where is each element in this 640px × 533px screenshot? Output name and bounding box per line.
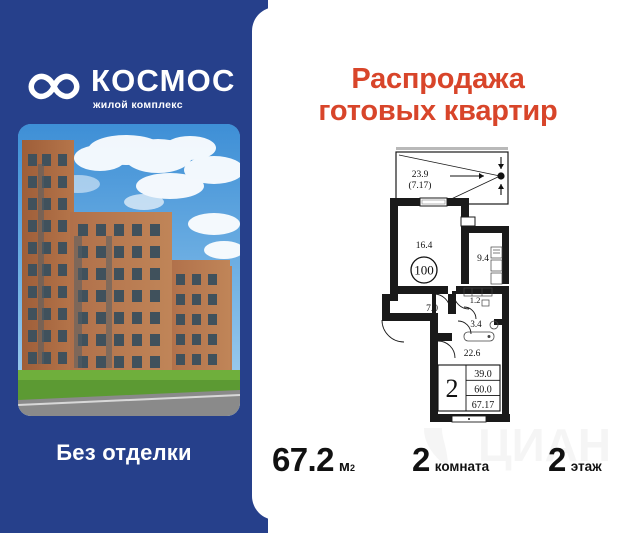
logo-text: КОСМОС жилой комплекс <box>91 65 236 111</box>
apartment-stats: 67.2 м2 2 комната 2 этаж <box>252 437 640 487</box>
stat-floor-value: 2 <box>548 443 566 476</box>
title-line-2: готовых квартир <box>252 95 624 127</box>
label-area-living: 39.0 <box>474 369 492 380</box>
logo-wordmark: КОСМОС <box>91 65 236 96</box>
label-area-total: 67.17 <box>472 400 495 411</box>
stat-floor: 2 этаж <box>548 443 602 476</box>
label-balcony-area: 23.9 <box>412 170 429 180</box>
label-balcony-area-reduced: (7.17) <box>409 180 432 191</box>
infinity-icon <box>26 71 82 105</box>
stat-rooms: 2 комната <box>412 443 489 476</box>
title-line-1: Распродажа <box>351 63 524 95</box>
floorplan: 23.9 (7.17) <box>372 143 520 428</box>
logo-subtitle: жилой комплекс <box>93 100 183 111</box>
stat-area-unit: м <box>339 459 350 474</box>
label-rooms-badge: 2 <box>446 374 459 403</box>
kosmos-logo: КОСМОС жилой комплекс <box>26 62 241 114</box>
stat-area-superscript: 2 <box>350 463 355 473</box>
stat-area-value: 67.2 <box>272 443 334 476</box>
label-apartment-number: 100 <box>414 263 434 278</box>
stat-area: 67.2 м2 <box>272 443 355 476</box>
stat-floor-unit: этаж <box>571 460 602 474</box>
page-title: Распродажа готовых квартир <box>252 63 624 128</box>
label-wc-area: 1.2 <box>470 295 481 305</box>
building-photo <box>18 124 240 416</box>
poster-root: КОСМОС жилой комплекс <box>0 0 640 533</box>
label-living-room-area: 22.6 <box>464 349 481 359</box>
label-bathroom-area: 3.4 <box>470 319 482 329</box>
label-bedroom-area: 16.4 <box>416 241 433 251</box>
label-area-usable: 60.0 <box>474 384 492 395</box>
left-brand-panel: КОСМОС жилой комплекс <box>0 0 268 533</box>
label-room-area: 9.4 <box>477 254 489 264</box>
offer-card: Распродажа готовых квартир ЦИАН <box>252 7 640 520</box>
stat-rooms-unit: комната <box>435 460 489 474</box>
stat-rooms-value: 2 <box>412 443 430 476</box>
finish-caption: Без отделки <box>0 440 248 466</box>
